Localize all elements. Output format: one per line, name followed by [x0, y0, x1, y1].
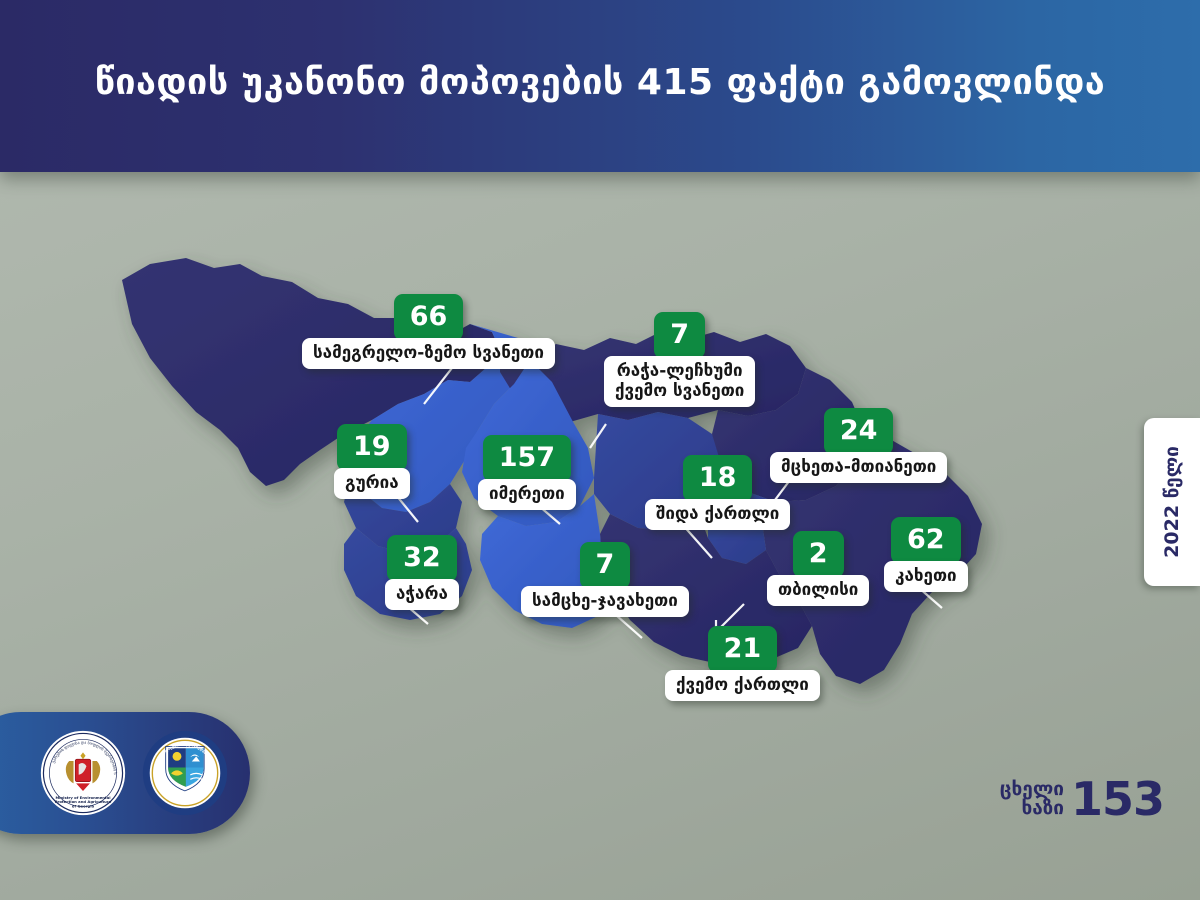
region-value-samtskhe-javakheti: 7: [580, 542, 631, 589]
region-value-tbilisi: 2: [793, 531, 844, 578]
region-label-kakheti: კახეთი: [884, 561, 968, 592]
header-banner: წიადის უკანონო მოპოვების 415 ფაქტი გამოვ…: [0, 0, 1200, 172]
hotline-number: 153: [1071, 778, 1164, 820]
region-value-racha-lechkhumi-kvemo-svaneti: 7: [654, 312, 705, 359]
region-value-samegrelo-zemo-svaneti: 66: [394, 294, 464, 341]
region-label-mtskheta-mtianeti: მცხეთა-მთიანეთი: [770, 452, 947, 483]
region-label-shida-kartli: შიდა ქართლი: [645, 499, 790, 530]
environmental-supervision-department-logo: გარემოსდაცვითი ზედამხედველობა დეპარტამენ…: [142, 730, 228, 816]
region-label-samegrelo-zemo-svaneti: სამეგრელო-ზემო სვანეთი: [302, 338, 555, 369]
svg-text:of Georgia: of Georgia: [72, 803, 95, 808]
region-marker-kvemo-kartli[interactable]: 21 ქვემო ქართლი: [665, 626, 820, 701]
region-marker-samegrelo-zemo-svaneti[interactable]: 66 სამეგრელო-ზემო სვანეთი: [302, 294, 555, 369]
infographic-canvas: წიადის უკანონო მოპოვების 415 ფაქტი გამოვ…: [0, 0, 1200, 900]
region-marker-shida-kartli[interactable]: 18 შიდა ქართლი: [645, 455, 790, 530]
region-value-imereti: 157: [483, 435, 571, 482]
region-value-guria: 19: [337, 424, 407, 471]
region-value-shida-kartli: 18: [683, 455, 753, 502]
region-marker-kakheti[interactable]: 62 კახეთი: [884, 517, 968, 592]
hotline-label: ცხელი ხაზი: [1000, 780, 1064, 819]
region-marker-imereti[interactable]: 157 იმერეთი: [478, 435, 576, 510]
region-value-adjara: 32: [387, 535, 457, 582]
region-label-adjara: აჭარა: [385, 579, 459, 610]
region-value-kakheti: 62: [891, 517, 961, 564]
region-value-kvemo-kartli: 21: [708, 626, 778, 673]
hotline-block: ცხელი ხაზი 153: [1000, 778, 1164, 820]
region-marker-mtskheta-mtianeti[interactable]: 24 მცხეთა-მთიანეთი: [770, 408, 947, 483]
region-marker-guria[interactable]: 19 გურია: [334, 424, 410, 499]
region-marker-samtskhe-javakheti[interactable]: 7 სამცხე-ჯავახეთი: [521, 542, 689, 617]
region-label-racha-lechkhumi-kvemo-svaneti: რაჭა-ლეჩხუმი ქვემო სვანეთი: [604, 356, 755, 407]
ministry-of-environmental-protection-and-agriculture-logo: Ministry of Environmental Protection and…: [40, 730, 126, 816]
region-label-tbilisi: თბილისი: [767, 575, 869, 606]
page-title: წიადის უკანონო მოპოვების 415 ფაქტი გამოვ…: [95, 62, 1105, 111]
logo-bar: Ministry of Environmental Protection and…: [0, 712, 250, 834]
year-tab-label: 2022 წელი: [1161, 446, 1183, 558]
region-label-guria: გურია: [334, 468, 410, 499]
region-marker-tbilisi[interactable]: 2 თბილისი: [767, 531, 869, 606]
year-tab: 2022 წელი: [1144, 418, 1200, 586]
region-marker-racha-lechkhumi-kvemo-svaneti[interactable]: 7 რაჭა-ლეჩხუმი ქვემო სვანეთი: [604, 312, 755, 407]
region-label-samtskhe-javakheti: სამცხე-ჯავახეთი: [521, 586, 689, 617]
region-label-kvemo-kartli: ქვემო ქართლი: [665, 670, 820, 701]
region-value-mtskheta-mtianeti: 24: [824, 408, 894, 455]
region-marker-adjara[interactable]: 32 აჭარა: [385, 535, 459, 610]
region-label-imereti: იმერეთი: [478, 479, 576, 510]
